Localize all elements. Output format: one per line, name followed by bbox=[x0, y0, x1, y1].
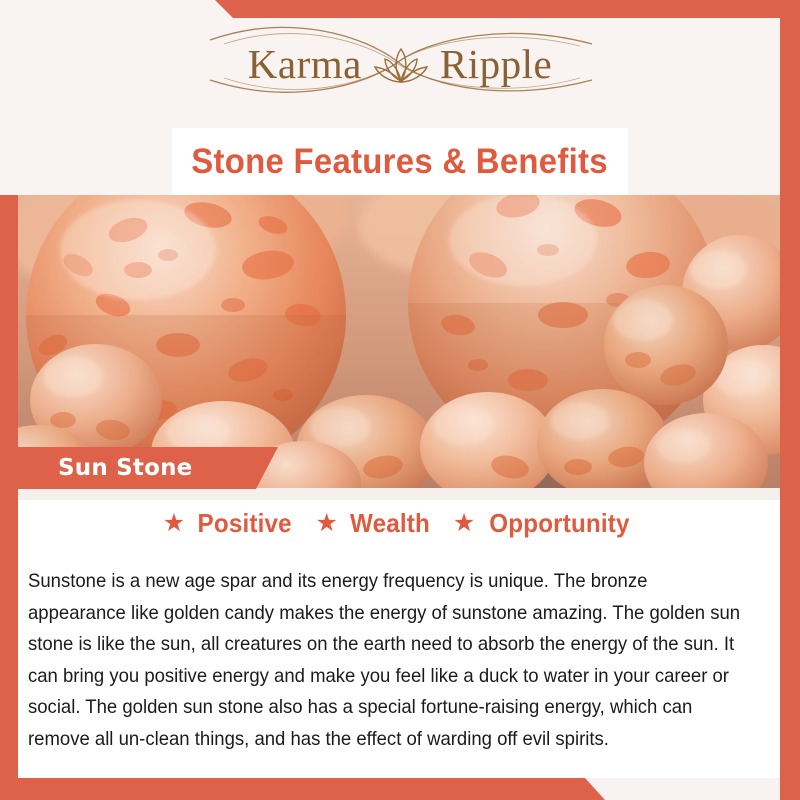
star-icon: ★ bbox=[453, 511, 475, 536]
title-band: Stone Features & Benefits bbox=[0, 128, 800, 195]
sunstone-photo bbox=[18, 195, 780, 488]
title-band-left-shade bbox=[0, 128, 172, 195]
title-band-right-shade bbox=[628, 128, 800, 195]
keyword-label: Wealth bbox=[350, 508, 430, 539]
frame-border-right bbox=[780, 0, 800, 800]
panel-top-shade bbox=[18, 488, 780, 500]
stone-name-label: Sun Stone bbox=[58, 455, 192, 481]
lotus-icon bbox=[370, 41, 432, 87]
keyword-item-wealth: ★ Wealth bbox=[295, 508, 432, 539]
sunstone-photo-artwork bbox=[18, 195, 780, 488]
infographic-page: Karma Ripple Stone Features & Benefits bbox=[0, 0, 800, 800]
benefit-keywords: ★ Positive ★ Wealth ★ Opportunity bbox=[18, 508, 780, 539]
brand-word-right: Ripple bbox=[440, 44, 552, 85]
frame-border-bottom bbox=[0, 778, 800, 800]
keyword-item-positive: ★ Positive bbox=[163, 508, 296, 539]
keyword-label: Opportunity bbox=[490, 508, 630, 539]
stone-description-text: Sunstone is a new age spar and its energ… bbox=[28, 566, 740, 755]
brand-logo: Karma Ripple bbox=[180, 18, 620, 110]
brand-word-left: Karma bbox=[248, 44, 362, 85]
stone-name-banner: Sun Stone bbox=[0, 447, 278, 489]
frame-border-left bbox=[0, 195, 18, 800]
keyword-label: Positive bbox=[198, 508, 292, 539]
keyword-item-opportunity: ★ Opportunity bbox=[433, 508, 635, 539]
brand-wordmark-row: Karma Ripple bbox=[248, 41, 552, 87]
brand-header: Karma Ripple bbox=[0, 0, 800, 128]
star-icon: ★ bbox=[315, 511, 337, 536]
page-title: Stone Features & Benefits bbox=[192, 142, 609, 182]
star-icon: ★ bbox=[163, 511, 185, 536]
